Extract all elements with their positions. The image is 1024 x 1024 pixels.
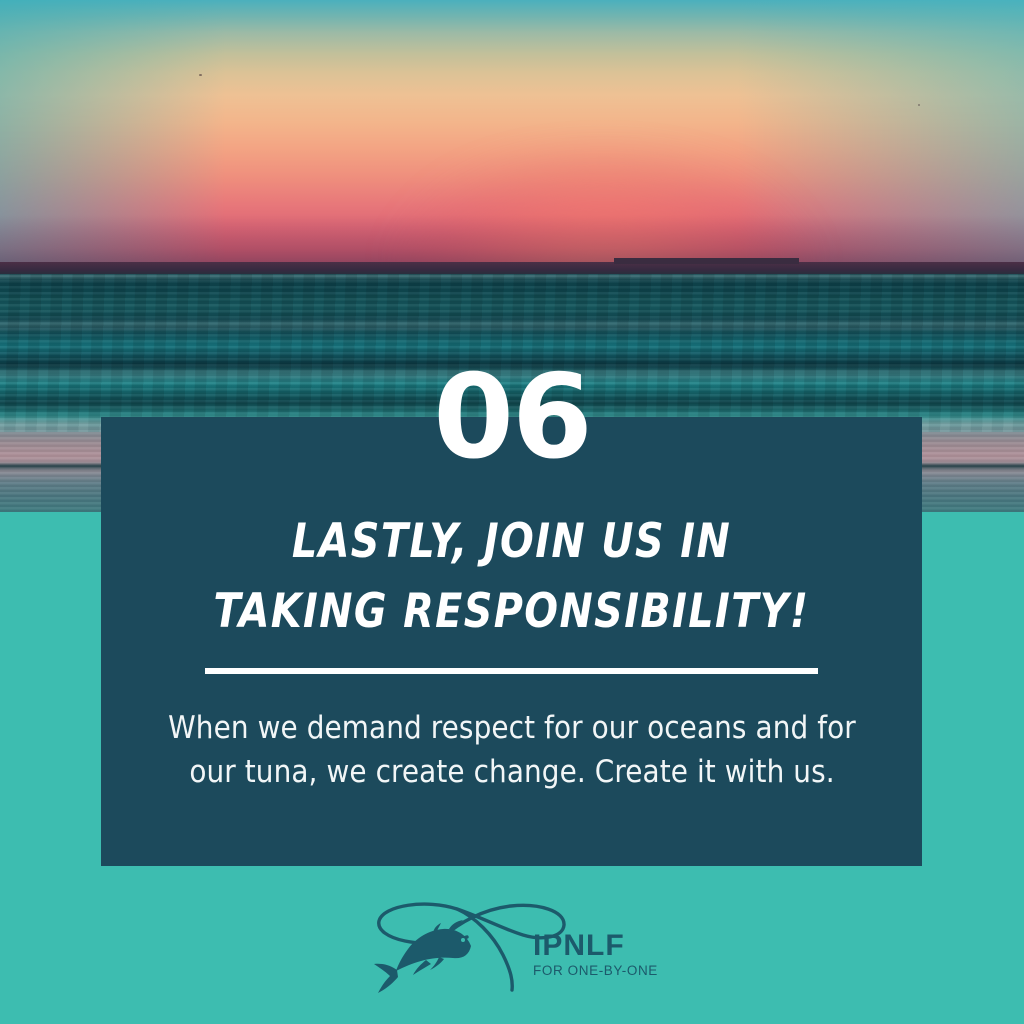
divider-rule <box>205 668 818 674</box>
headline-line-1: LASTLY, JOIN US IN <box>126 507 898 577</box>
body-copy: When we demand respect for our oceans an… <box>140 706 884 794</box>
logo-wordmark: IPNLF <box>533 929 625 962</box>
bird-speck-icon <box>918 104 920 106</box>
ipnlf-logo-svg: IPNLF FOR ONE-BY-ONE FISHERS <box>371 893 661 993</box>
body-line-1: When we demand respect for our oceans an… <box>140 706 884 750</box>
step-number: 06 <box>0 360 1024 476</box>
logo-tagline: FOR ONE-BY-ONE FISHERS <box>533 963 661 978</box>
ipnlf-logo: IPNLF FOR ONE-BY-ONE FISHERS <box>371 893 661 993</box>
tuna-fish-icon <box>374 920 471 993</box>
body-line-2: our tuna, we create change. Create it wi… <box>140 750 884 794</box>
headline: LASTLY, JOIN US IN TAKING RESPONSIBILITY… <box>101 507 922 647</box>
bird-speck-icon <box>199 74 202 76</box>
headline-line-2: TAKING RESPONSIBILITY! <box>126 577 898 647</box>
social-post-card: 06 LASTLY, JOIN US IN TAKING RESPONSIBIL… <box>0 0 1024 1024</box>
